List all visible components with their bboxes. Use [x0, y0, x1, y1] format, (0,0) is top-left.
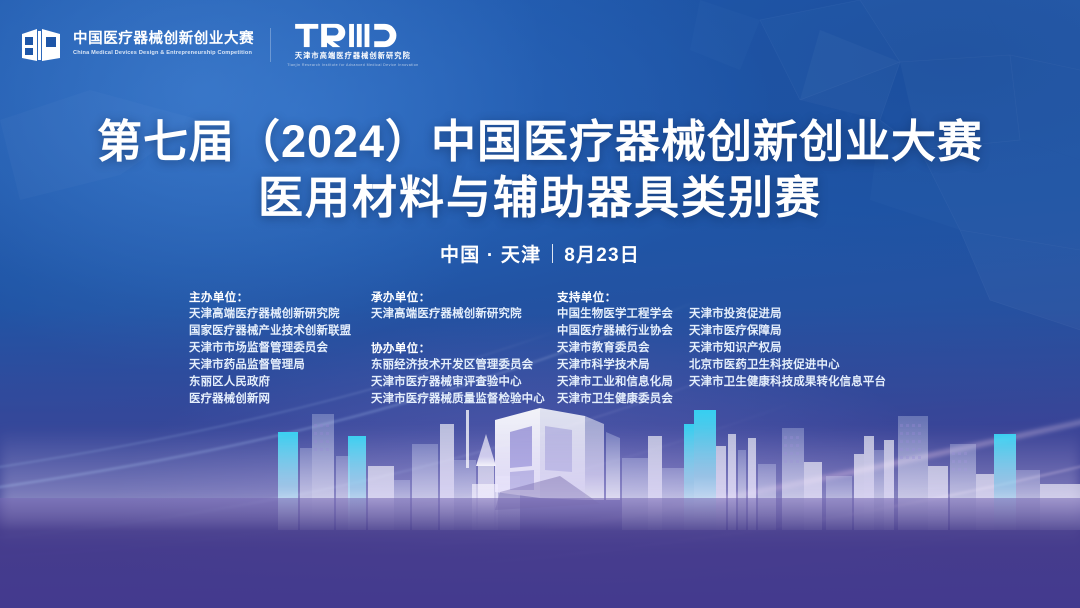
organiser-item: 东丽区人民政府	[189, 374, 371, 391]
organiser-item: 国家医疗器械产业技术创新联盟	[189, 323, 371, 340]
main-title-line2: 医用材料与辅助器具类别赛	[0, 172, 1080, 224]
event-poster: 中国医疗器械创新创业大赛 China Medical Devices Desig…	[0, 0, 1080, 608]
hosts-column: 承办单位： 天津高端医疗器械创新研究院 协办单位： 东丽经济技术开发区管理委员会…	[371, 289, 557, 408]
location-date-separator	[552, 244, 553, 263]
undertaker-item: 天津高端医疗器械创新研究院	[371, 306, 557, 323]
institute-title-cn: 天津市高端医疗器械创新研究院	[295, 51, 411, 61]
organiser-item: 天津高端医疗器械创新研究院	[189, 306, 371, 323]
supporters-column: 支持单位： 中国生物医学工程学会 中国医疗器械行业协会 天津市教育委员会 天津市…	[557, 289, 689, 408]
header-logos: 中国医疗器械创新创业大赛 China Medical Devices Desig…	[20, 22, 419, 67]
co-organiser-item: 天津市医疗器械质量监督检验中心	[371, 391, 557, 408]
competition-logo-title-en: China Medical Devices Design & Entrepren…	[73, 50, 254, 56]
supporter-item: 天津市医疗保障局	[689, 323, 899, 340]
supporter-item: 中国生物医学工程学会	[557, 306, 689, 323]
event-date: 8月23日	[564, 240, 640, 267]
supporter-item: 中国医疗器械行业协会	[557, 323, 689, 340]
organiser-item: 医疗器械创新网	[189, 391, 371, 408]
supporters-heading: 支持单位：	[557, 289, 689, 306]
main-title-line1: 第七届（2024）中国医疗器械创新创业大赛	[0, 116, 1080, 168]
location-date-line: 中国 · 天津 8月23日	[0, 240, 1080, 267]
title-block: 第七届（2024）中国医疗器械创新创业大赛 医用材料与辅助器具类别赛 中国 · …	[0, 116, 1080, 267]
institute-title-en: Tianjin Research Institute for Advanced …	[287, 63, 418, 67]
organisations-block: 主办单位： 天津高端医疗器械创新研究院 国家医疗器械产业技术创新联盟 天津市市场…	[189, 289, 899, 408]
supporter-item: 天津市卫生健康委员会	[557, 391, 689, 408]
foreground-ground	[0, 498, 1080, 608]
organiser-item: 天津市药品监督管理局	[189, 357, 371, 374]
supporter-item: 天津市卫生健康科技成果转化信息平台	[689, 374, 899, 391]
institute-logo[interactable]: 天津市高端医疗器械创新研究院 Tianjin Research Institut…	[287, 22, 418, 67]
co-organiser-heading: 协办单位：	[371, 340, 557, 357]
supporter-item: 天津市知识产权局	[689, 340, 899, 357]
competition-logo-title-cn: 中国医疗器械创新创业大赛	[73, 32, 254, 48]
event-location: 中国 · 天津	[440, 240, 541, 267]
supporter-item: 天津市工业和信息化局	[557, 374, 689, 391]
supporters-column-continued: 天津市投资促进局 天津市医疗保障局 天津市知识产权局 北京市医药卫生科技促进中心…	[689, 289, 899, 391]
column-spacer	[371, 323, 557, 340]
triid-wordmark-icon	[295, 22, 411, 49]
supporter-item: 天津市投资促进局	[689, 306, 899, 323]
supporter-item: 天津市教育委员会	[557, 340, 689, 357]
supporter-item: 天津市科学技术局	[557, 357, 689, 374]
logo-divider	[270, 28, 271, 62]
co-organiser-item: 天津市医疗器械审评查验中心	[371, 374, 557, 391]
competition-logo[interactable]: 中国医疗器械创新创业大赛 China Medical Devices Desig…	[20, 25, 254, 65]
organisers-heading: 主办单位：	[189, 289, 371, 306]
organiser-item: 天津市市场监督管理委员会	[189, 340, 371, 357]
open-door-book-logo-icon	[20, 25, 64, 65]
supporter-item: 北京市医药卫生科技促进中心	[689, 357, 899, 374]
co-organiser-item: 东丽经济技术开发区管理委员会	[371, 357, 557, 374]
organisers-column: 主办单位： 天津高端医疗器械创新研究院 国家医疗器械产业技术创新联盟 天津市市场…	[189, 289, 371, 408]
undertaker-heading: 承办单位：	[371, 289, 557, 306]
